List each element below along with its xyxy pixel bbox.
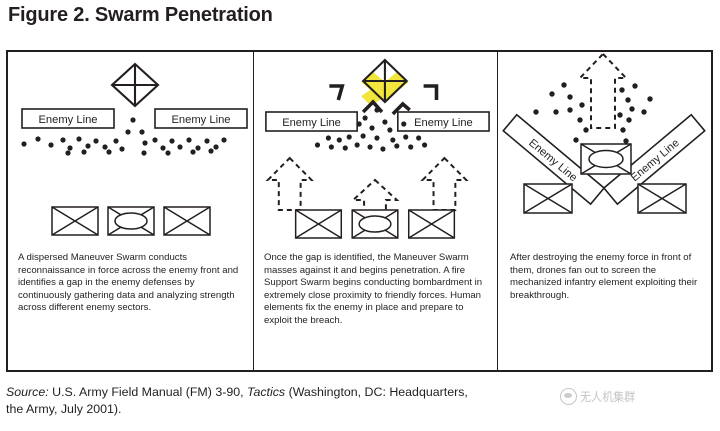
panel-3-diagram: Enemy Line Enemy Line [498,52,711,248]
infantry-unit-symbol-1 [524,184,572,213]
source-manual-title: Tactics [247,385,285,399]
source-text-2: (Washington, DC: Headquarters, [285,385,468,399]
panel-2-diagram: Enemy Line Enemy Line [254,52,497,248]
panel-3-caption: After destroying the enemy force in fron… [510,252,703,302]
panel-1-diagram: Enemy Line Enemy Line [8,52,253,248]
panel-swarm-massing: Enemy Line Enemy Line [253,52,498,370]
mechanized-infantry-unit-symbol [581,144,631,174]
enemy-line-label-right: Enemy Line [171,114,230,126]
enemy-line-label-right: Enemy Line [414,117,473,129]
infantry-unit-symbol-1 [296,210,342,238]
panel-breakthrough-exploitation: Enemy Line Enemy Line [498,52,711,370]
infantry-unit-symbol-2 [164,207,210,235]
source-citation: Source: U.S. Army Field Manual (FM) 3-90… [6,384,706,418]
infantry-unit-symbol-2 [409,210,455,238]
panel-2-caption: Once the gap is identified, the Maneuver… [264,252,487,328]
advance-arrow-right [423,158,467,210]
infantry-unit-symbol-2 [638,184,686,213]
source-line-2: the Army, July 2001). [6,402,121,416]
drone-swarm-dots [533,82,652,143]
mechanized-infantry-unit-symbol [108,207,154,235]
infantry-unit-symbol-1 [52,207,98,235]
mechanized-infantry-unit-symbol [352,210,398,238]
advance-arrow-center [353,180,397,212]
swarm-diamond-icon [112,64,158,106]
panel-1-caption: A dispersed Maneuver Swarm conducts reco… [18,252,243,315]
enemy-line-label-left: Enemy Line [282,117,341,129]
figure-frame: Enemy Line Enemy Line [6,50,713,372]
page-title: Figure 2. Swarm Penetration [8,4,273,27]
source-label: Source: [6,385,49,399]
source-text-1: U.S. Army Field Manual (FM) 3-90, [49,385,247,399]
enemy-line-label-left: Enemy Line [38,114,97,126]
advance-arrow-left [268,158,312,210]
panel-dispersed-swarm: Enemy Line Enemy Line [8,52,253,370]
